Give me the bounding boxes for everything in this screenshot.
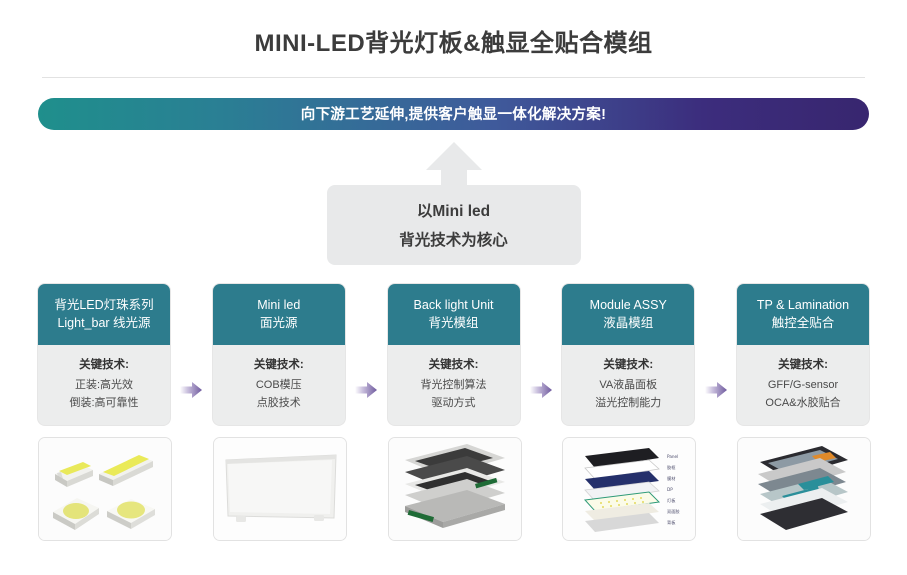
key-item-4-1: VA液晶面板: [566, 377, 690, 395]
process-card-4[interactable]: Module ASSY 液晶模组 关键技术: VA液晶面板 溢光控制能力: [562, 284, 694, 425]
card-header-3: Back light Unit 背光模组: [388, 284, 520, 345]
key-item-5-1: GFF/G-sensor: [741, 377, 865, 395]
process-card-1[interactable]: 背光LED灯珠系列 Light_bar 线光源 关键技术: 正装:高光效 倒装:…: [38, 284, 170, 425]
arrow-cell-4: [701, 284, 731, 425]
gradient-banner: 向下游工艺延伸,提供客户触显一体化解决方案!: [38, 98, 869, 130]
stack-label-5: 双面胶: [667, 508, 680, 515]
process-row: 背光LED灯珠系列 Light_bar 线光源 关键技术: 正装:高光效 倒装:…: [38, 284, 869, 425]
photo-gap-1: [176, 437, 206, 541]
key-label-5: 关键技术:: [741, 356, 865, 374]
card-title-en-2: Mini led: [217, 296, 341, 314]
key-item-3-2: 驱动方式: [392, 395, 516, 413]
photo-row: Panel 胶框 膜材 DP 灯板 双面胶 背板: [38, 437, 869, 541]
key-label-2: 关键技术:: [217, 356, 341, 374]
process-card-2[interactable]: Mini led 面光源 关键技术: COB模压 点胶技术: [213, 284, 345, 425]
card-body-1: 关键技术: 正装:高光效 倒装:高可靠性: [38, 345, 170, 425]
photo-slot-4: Panel 胶框 膜材 DP 灯板 双面胶 背板: [562, 437, 694, 541]
stack-label-4: 灯板: [667, 497, 676, 504]
key-label-3: 关键技术:: [392, 356, 516, 374]
photo-slot-2: [213, 437, 345, 541]
page-title: MINI-LED背光灯板&触显全贴合模组: [0, 0, 907, 59]
arrow-cell-1: [176, 284, 206, 425]
touch-lamination-exploded-photo: [737, 437, 871, 541]
card-title-cn-4: 液晶模组: [566, 314, 690, 332]
core-callout-wrap: 以Mini led 背光技术为核心: [0, 142, 907, 265]
card-header-4: Module ASSY 液晶模组: [562, 284, 694, 345]
diffuser-panel-photo: [213, 437, 347, 541]
arrow-up-icon: [426, 142, 482, 170]
card-header-1: 背光LED灯珠系列 Light_bar 线光源: [38, 284, 170, 345]
card-body-3: 关键技术: 背光控制算法 驱动方式: [388, 345, 520, 425]
backlight-unit-exploded-photo: [388, 437, 522, 541]
key-item-3-1: 背光控制算法: [392, 377, 516, 395]
photo-slot-3: [388, 437, 520, 541]
key-label-1: 关键技术:: [42, 356, 166, 374]
stack-label-0: Panel: [667, 454, 678, 459]
arrow-cell-3: [526, 284, 556, 425]
stack-label-6: 背板: [667, 519, 676, 526]
card-body-5: 关键技术: GFF/G-sensor OCA&水胶贴合: [737, 345, 869, 425]
led-chips-photo: [38, 437, 172, 541]
stack-label-1: 胶框: [667, 464, 676, 471]
card-body-4: 关键技术: VA液晶面板 溢光控制能力: [562, 345, 694, 425]
key-item-2-1: COB模压: [217, 377, 341, 395]
card-title-cn-5: 触控全贴合: [741, 314, 865, 332]
key-item-1-1: 正装:高光效: [42, 377, 166, 395]
core-line-1: 以Mini led: [417, 199, 490, 221]
process-card-5[interactable]: TP & Lamination 触控全贴合 关键技术: GFF/G-sensor…: [737, 284, 869, 425]
core-line-2: 背光技术为核心: [399, 228, 508, 250]
banner-text: 向下游工艺延伸,提供客户触显一体化解决方案!: [301, 103, 606, 124]
stack-label-3: DP: [667, 487, 673, 492]
photo-slot-1: [38, 437, 170, 541]
lcd-module-exploded-photo: Panel 胶框 膜材 DP 灯板 双面胶 背板: [562, 437, 696, 541]
arrow-right-icon: [705, 382, 727, 398]
key-item-5-2: OCA&水胶贴合: [741, 395, 865, 413]
arrow-cell-2: [351, 284, 381, 425]
card-body-2: 关键技术: COB模压 点胶技术: [213, 345, 345, 425]
photo-gap-2: [351, 437, 381, 541]
card-header-2: Mini led 面光源: [213, 284, 345, 345]
card-title-en-1: 背光LED灯珠系列: [42, 296, 166, 314]
card-header-5: TP & Lamination 触控全贴合: [737, 284, 869, 345]
photo-gap-3: [526, 437, 556, 541]
card-title-cn-1: Light_bar 线光源: [42, 314, 166, 332]
key-item-2-2: 点胶技术: [217, 395, 341, 413]
key-item-1-2: 倒装:高可靠性: [42, 395, 166, 413]
arrow-right-icon: [180, 382, 202, 398]
core-callout-box: 以Mini led 背光技术为核心: [327, 185, 581, 265]
core-callout: 以Mini led 背光技术为核心: [327, 142, 581, 265]
arrow-right-icon: [530, 382, 552, 398]
key-label-4: 关键技术:: [566, 356, 690, 374]
arrow-up-stem: [441, 169, 467, 185]
title-divider: [42, 77, 865, 78]
photo-slot-5: [737, 437, 869, 541]
card-title-en-5: TP & Lamination: [741, 296, 865, 314]
key-item-4-2: 溢光控制能力: [566, 395, 690, 413]
card-title-cn-3: 背光模组: [392, 314, 516, 332]
stack-label-2: 膜材: [667, 475, 675, 482]
card-title-en-3: Back light Unit: [392, 296, 516, 314]
banner-wrap: 向下游工艺延伸,提供客户触显一体化解决方案!: [38, 98, 869, 130]
process-card-3[interactable]: Back light Unit 背光模组 关键技术: 背光控制算法 驱动方式: [388, 284, 520, 425]
card-title-en-4: Module ASSY: [566, 296, 690, 314]
photo-gap-4: [701, 437, 731, 541]
arrow-right-icon: [355, 382, 377, 398]
card-title-cn-2: 面光源: [217, 314, 341, 332]
